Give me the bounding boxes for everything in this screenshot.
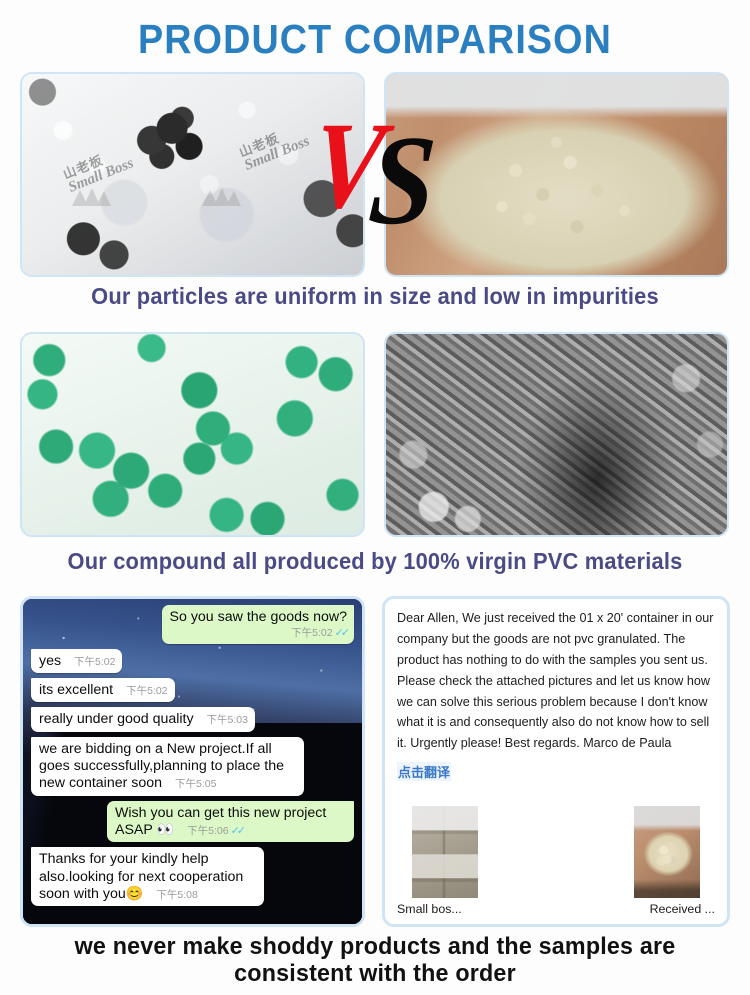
email-body-text: Dear Allen, We just received the 01 x 20…	[397, 608, 715, 754]
product-photo-panel-impure-particles	[384, 72, 729, 277]
page-title: PRODUCT COMPARISON	[30, 16, 720, 63]
chat-message-text: yes	[39, 653, 61, 669]
chat-message-meta: 下午5:02✓✓	[170, 627, 347, 640]
chat-timestamp: 下午5:08	[156, 889, 197, 902]
chat-bubble-outgoing: Wish you can get this new project ASAP 👀…	[107, 801, 354, 843]
chat-message-row: its excellent 下午5:02	[31, 678, 354, 702]
chat-bubble-incoming: Thanks for your kindly help also.looking…	[31, 847, 264, 906]
whatsapp-chat-screenshot-panel: So you saw the goods now? 下午5:02✓✓ yes 下…	[20, 596, 365, 927]
chat-message-text: Thanks for your kindly help also.looking…	[39, 851, 243, 902]
chat-bubble-incoming: its excellent 下午5:02	[31, 678, 175, 702]
chat-message-row: we are bidding on a New project.If all g…	[31, 737, 354, 796]
read-receipt-icon: ✓✓	[231, 825, 243, 837]
photo-green-pellets	[22, 334, 363, 535]
chat-bubble-outgoing: So you saw the goods now? 下午5:02✓✓	[162, 605, 354, 644]
attachment-thumbnail-image[interactable]	[634, 806, 700, 898]
caption-row-1: Our particles are uniform in size and lo…	[19, 283, 732, 310]
product-photo-panel-green-pellets	[20, 332, 365, 537]
chat-timestamp: 下午5:06	[187, 825, 228, 837]
chat-bubble-incoming: yes 下午5:02	[31, 649, 122, 673]
caption-row-3-line-2: consistent with the order	[234, 960, 516, 987]
chat-timestamp: 下午5:02	[126, 685, 167, 698]
read-receipt-icon: ✓✓	[335, 627, 347, 639]
chat-message-row: Thanks for your kindly help also.looking…	[31, 847, 354, 906]
chat-timestamp: 下午5:05	[175, 778, 216, 791]
chat-message-text: we are bidding on a New project.If all g…	[39, 741, 284, 792]
chat-message-row: really under good quality 下午5:03	[31, 707, 354, 731]
email-attachment[interactable]: Received ...	[619, 806, 715, 916]
chat-message-text: So you saw the goods now?	[170, 609, 347, 625]
chat-message-row: yes 下午5:02	[31, 649, 354, 673]
email-attachment-list: Small bos... Received ...	[397, 806, 715, 916]
chat-message-list[interactable]: So you saw the goods now? 下午5:02✓✓ yes 下…	[23, 599, 362, 924]
chat-timestamp: 下午5:02	[74, 656, 115, 669]
translate-link[interactable]: 点击翻译	[397, 762, 451, 781]
chat-bubble-incoming: really under good quality 下午5:03	[31, 707, 255, 731]
chat-message-row: Wish you can get this new project ASAP 👀…	[31, 801, 354, 843]
chat-message-row: So you saw the goods now? 下午5:02✓✓	[31, 605, 354, 644]
chat-message-text: really under good quality	[39, 711, 194, 727]
photo-dark-pellets	[22, 74, 363, 275]
chat-timestamp: 下午5:02	[291, 627, 332, 639]
chat-timestamp: 下午5:03	[207, 714, 248, 727]
chat-bubble-incoming: we are bidding on a New project.If all g…	[31, 737, 304, 796]
chat-message-meta: 下午5:06✓✓	[187, 825, 243, 838]
caption-row-3-line-1: we never make shoddy products and the sa…	[75, 933, 676, 960]
caption-row-2: Our compound all produced by 100% virgin…	[19, 548, 732, 575]
attachment-filename: Small bos...	[397, 902, 493, 916]
product-photo-panel-recycled-scrap	[384, 332, 729, 537]
photo-grey-scrap	[386, 334, 727, 535]
caption-row-3: we never make shoddy products and the sa…	[11, 934, 739, 988]
email-attachment[interactable]: Small bos...	[397, 806, 493, 916]
product-photo-panel-our-particles: 山老板 Small Boss 山老板 Small Boss	[20, 72, 365, 277]
attachment-filename: Received ...	[619, 902, 715, 916]
customer-complaint-email-panel: Dear Allen, We just received the 01 x 20…	[382, 596, 730, 927]
chat-message-text: its excellent	[39, 682, 113, 698]
attachment-thumbnail-image[interactable]	[412, 806, 478, 898]
photo-hand-beige-pellets	[386, 74, 727, 275]
